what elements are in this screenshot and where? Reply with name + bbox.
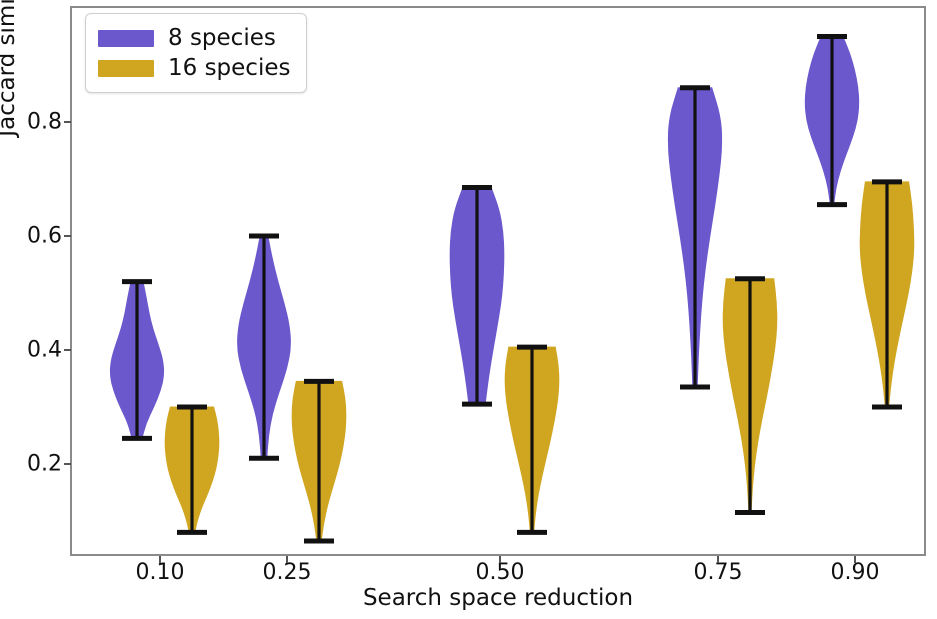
- y-tick-mark: [64, 121, 71, 123]
- x-tick-mark: [286, 556, 288, 563]
- x-axis-label: Search space reduction: [70, 585, 926, 611]
- legend: 8 species 16 species: [85, 13, 307, 93]
- y-tick-label: 0.2: [4, 452, 62, 477]
- x-tick-label: 0.10: [136, 560, 185, 585]
- y-axis-label: Jaccard similarity: [0, 0, 20, 168]
- y-tick-mark: [64, 463, 71, 465]
- legend-swatch-16-species: [98, 60, 154, 77]
- y-tick-mark: [64, 349, 71, 351]
- legend-item: 8 species: [98, 23, 290, 53]
- x-tick-mark: [854, 556, 856, 563]
- legend-label-8-species: 8 species: [168, 27, 276, 50]
- y-tick-label: 0.4: [4, 338, 62, 363]
- x-tick-label: 0.50: [476, 560, 525, 585]
- legend-item: 16 species: [98, 53, 290, 83]
- legend-label-16-species: 16 species: [168, 57, 290, 80]
- y-tick-mark: [64, 235, 71, 237]
- x-tick-label: 0.90: [831, 560, 880, 585]
- x-tick-label: 0.25: [263, 560, 312, 585]
- y-tick-label: 0.6: [4, 224, 62, 249]
- x-tick-mark: [717, 556, 719, 563]
- legend-swatch-8-species: [98, 30, 154, 47]
- x-tick-label: 0.75: [694, 560, 743, 585]
- x-tick-mark: [159, 556, 161, 563]
- x-tick-mark: [499, 556, 501, 563]
- chart-figure: 0.20.40.60.8 0.100.250.500.750.90 Jaccar…: [0, 0, 937, 619]
